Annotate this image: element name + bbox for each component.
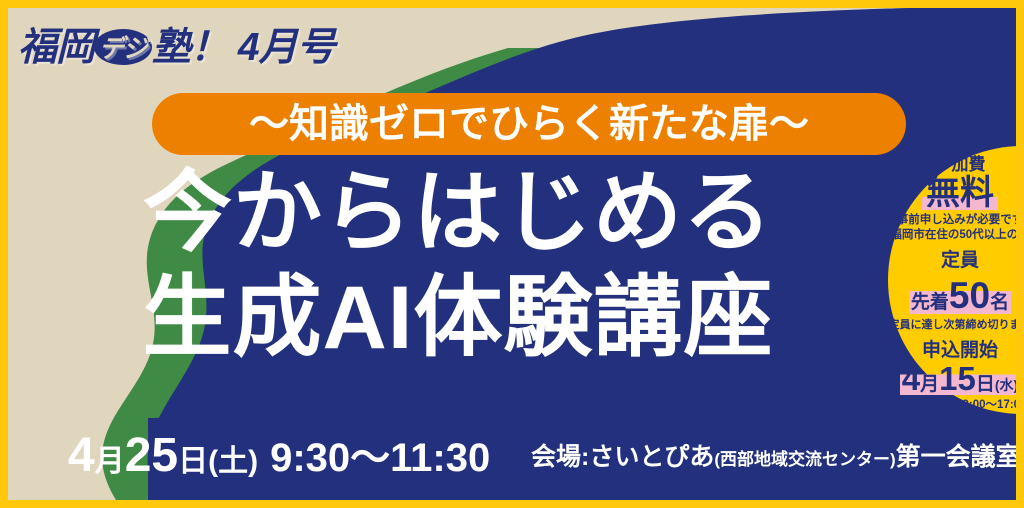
- fee-value-wrap: 無料: [888, 175, 1016, 210]
- catchphrase-pill: ～知識ゼロでひらく新たな扉～: [152, 93, 906, 155]
- apply-dow: (水): [995, 377, 1016, 393]
- capacity-value-row: 先着50名: [888, 277, 1016, 314]
- capacity-row: 定員: [888, 251, 1016, 270]
- apply-month: 4: [902, 360, 920, 397]
- venue-sub: (西部地域交流センター): [714, 450, 895, 469]
- apply-date-row: 4月15日(水): [888, 362, 1016, 395]
- fee-note-line2: 福岡市在住の50代以上の方: [888, 228, 1016, 244]
- fukuoka100-logo: 福岡1◯◯ 何歳でも チャレンジできる 未来のまちへ: [891, 16, 1002, 90]
- fee-label: 参加費: [888, 156, 1016, 175]
- capacity-highlight: 先着50名: [909, 277, 1011, 314]
- brand-name-prefix: 福岡: [18, 26, 94, 69]
- info-badge-content: 参加費 無料 事前申し込みが必要です 福岡市在住の50代以上の方 定員 先着50…: [888, 156, 1016, 429]
- fukuoka100-mark: 福岡1◯◯: [891, 16, 1002, 42]
- event-month: 4: [68, 429, 95, 482]
- event-month-unit: 月: [95, 445, 125, 478]
- event-dow: (土): [208, 445, 258, 478]
- brand-name-chip: デジ: [94, 29, 152, 65]
- brand-issue: 4月号: [238, 26, 335, 69]
- event-day: 25: [125, 429, 178, 482]
- fukuoka100-tagline-line3: 未来のまちへ: [891, 75, 1002, 90]
- main-title: 今からはじめる 生成AI体験講座: [8, 168, 898, 362]
- capacity-number: 50: [949, 275, 990, 316]
- venue-name: さいとぴあ: [589, 443, 714, 471]
- fukuoka100-tagline: 何歳でも チャレンジできる 未来のまちへ: [891, 44, 1002, 90]
- main-title-line1: 今からはじめる: [18, 168, 898, 257]
- fukuoka100-tagline-line1: 何歳でも: [891, 44, 1002, 59]
- apply-tel-line2: (月曜日、祝休日は除く): [888, 413, 1016, 429]
- capacity-note: 定員に達し次第締め切ります: [888, 316, 1016, 332]
- poster-root: 福岡デジ塾！ 4月号 福岡1◯◯ 何歳でも チャレンジできる 未来のまちへ ～知…: [0, 0, 1024, 508]
- apply-month-unit: 月: [920, 374, 939, 395]
- event-venue: 会場:さいとぴあ(西部地域交流センター)第一会議室: [531, 445, 1016, 470]
- venue-room: 第一会議室: [896, 443, 1016, 471]
- main-title-line2: 生成AI体験講座: [18, 273, 898, 362]
- capacity-label: 定員: [941, 250, 979, 271]
- apply-date-highlight: 4月15日(水): [900, 362, 1016, 395]
- event-datetime: 4月25日(土)9:30～11:30: [68, 432, 490, 480]
- fee-note: 事前申し込みが必要です 福岡市在住の50代以上の方: [888, 213, 1016, 244]
- fukuoka100-tagline-line2: チャレンジできる: [891, 59, 1002, 74]
- apply-day-unit: 日: [976, 374, 995, 395]
- brand-name-suffix: 塾！: [152, 26, 228, 69]
- apply-day: 15: [939, 360, 976, 397]
- capacity-unit: 名: [990, 292, 1009, 313]
- apply-tel-line1: 電話の受付は9:00～17:00: [888, 398, 1016, 414]
- info-badge-circle: 参加費 無料 事前申し込みが必要です 福岡市在住の50代以上の方 定員 先着50…: [888, 146, 1016, 414]
- capacity-order: 先着: [911, 292, 949, 313]
- brand-logo: 福岡デジ塾！ 4月号: [18, 16, 335, 72]
- apply-start-label: 申込開始: [888, 341, 1016, 360]
- fee-note-line1: 事前申し込みが必要です: [888, 213, 1016, 229]
- poster-canvas: 福岡デジ塾！ 4月号 福岡1◯◯ 何歳でも チャレンジできる 未来のまちへ ～知…: [8, 8, 1016, 500]
- event-day-unit: 日: [178, 445, 208, 478]
- catchphrase-text: ～知識ゼロでひらく新たな扉～: [249, 104, 809, 144]
- fee-value: 無料: [922, 176, 998, 210]
- venue-label: 会場:: [531, 443, 589, 471]
- apply-tel-note: 電話の受付は9:00～17:00 (月曜日、祝休日は除く): [888, 398, 1016, 429]
- event-time: 9:30～11:30: [270, 436, 490, 480]
